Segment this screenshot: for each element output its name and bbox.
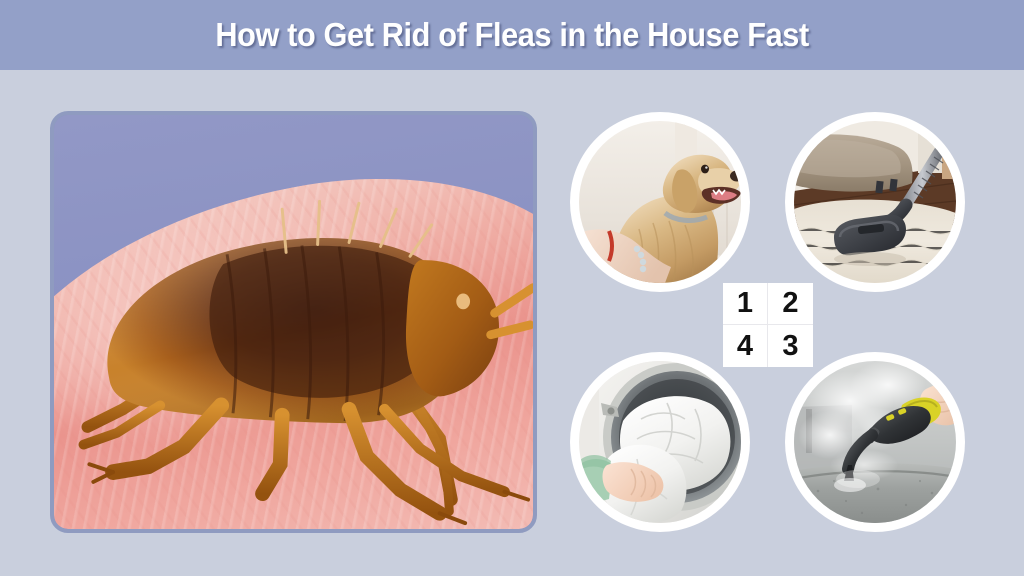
- infographic-page: How to Get Rid of Fleas in the House Fas…: [0, 0, 1024, 576]
- step-number-4: 4: [723, 325, 768, 367]
- step-photo-bathe-pet: [579, 121, 741, 283]
- step-photo-vacuum-carpet: [794, 121, 956, 283]
- step-numbers-block: 1 2 4 3: [723, 283, 813, 367]
- washing-machine-illustration: [579, 361, 741, 523]
- hero-image-frame: [50, 111, 537, 533]
- step-circle-wash-bedding[interactable]: [570, 352, 750, 532]
- step-photo-steam-clean: [794, 361, 956, 523]
- flea-macro-photo: [54, 115, 533, 529]
- step-number-1: 1: [723, 283, 768, 325]
- step-circle-vacuum-carpet[interactable]: [785, 112, 965, 292]
- steam-cleaner-illustration: [794, 361, 956, 523]
- step-photo-wash-bedding: [579, 361, 741, 523]
- vacuum-illustration: [794, 121, 956, 283]
- step-circle-steam-clean[interactable]: [785, 352, 965, 532]
- step-number-2: 2: [768, 283, 813, 325]
- step-number-3: 3: [768, 325, 813, 367]
- title-banner: How to Get Rid of Fleas in the House Fas…: [0, 0, 1024, 70]
- flea-head: [406, 260, 499, 396]
- step-circle-bathe-pet[interactable]: [570, 112, 750, 292]
- flea-illustration: [54, 115, 533, 529]
- page-title: How to Get Rid of Fleas in the House Fas…: [215, 16, 808, 54]
- dog-bath-illustration: [579, 121, 741, 283]
